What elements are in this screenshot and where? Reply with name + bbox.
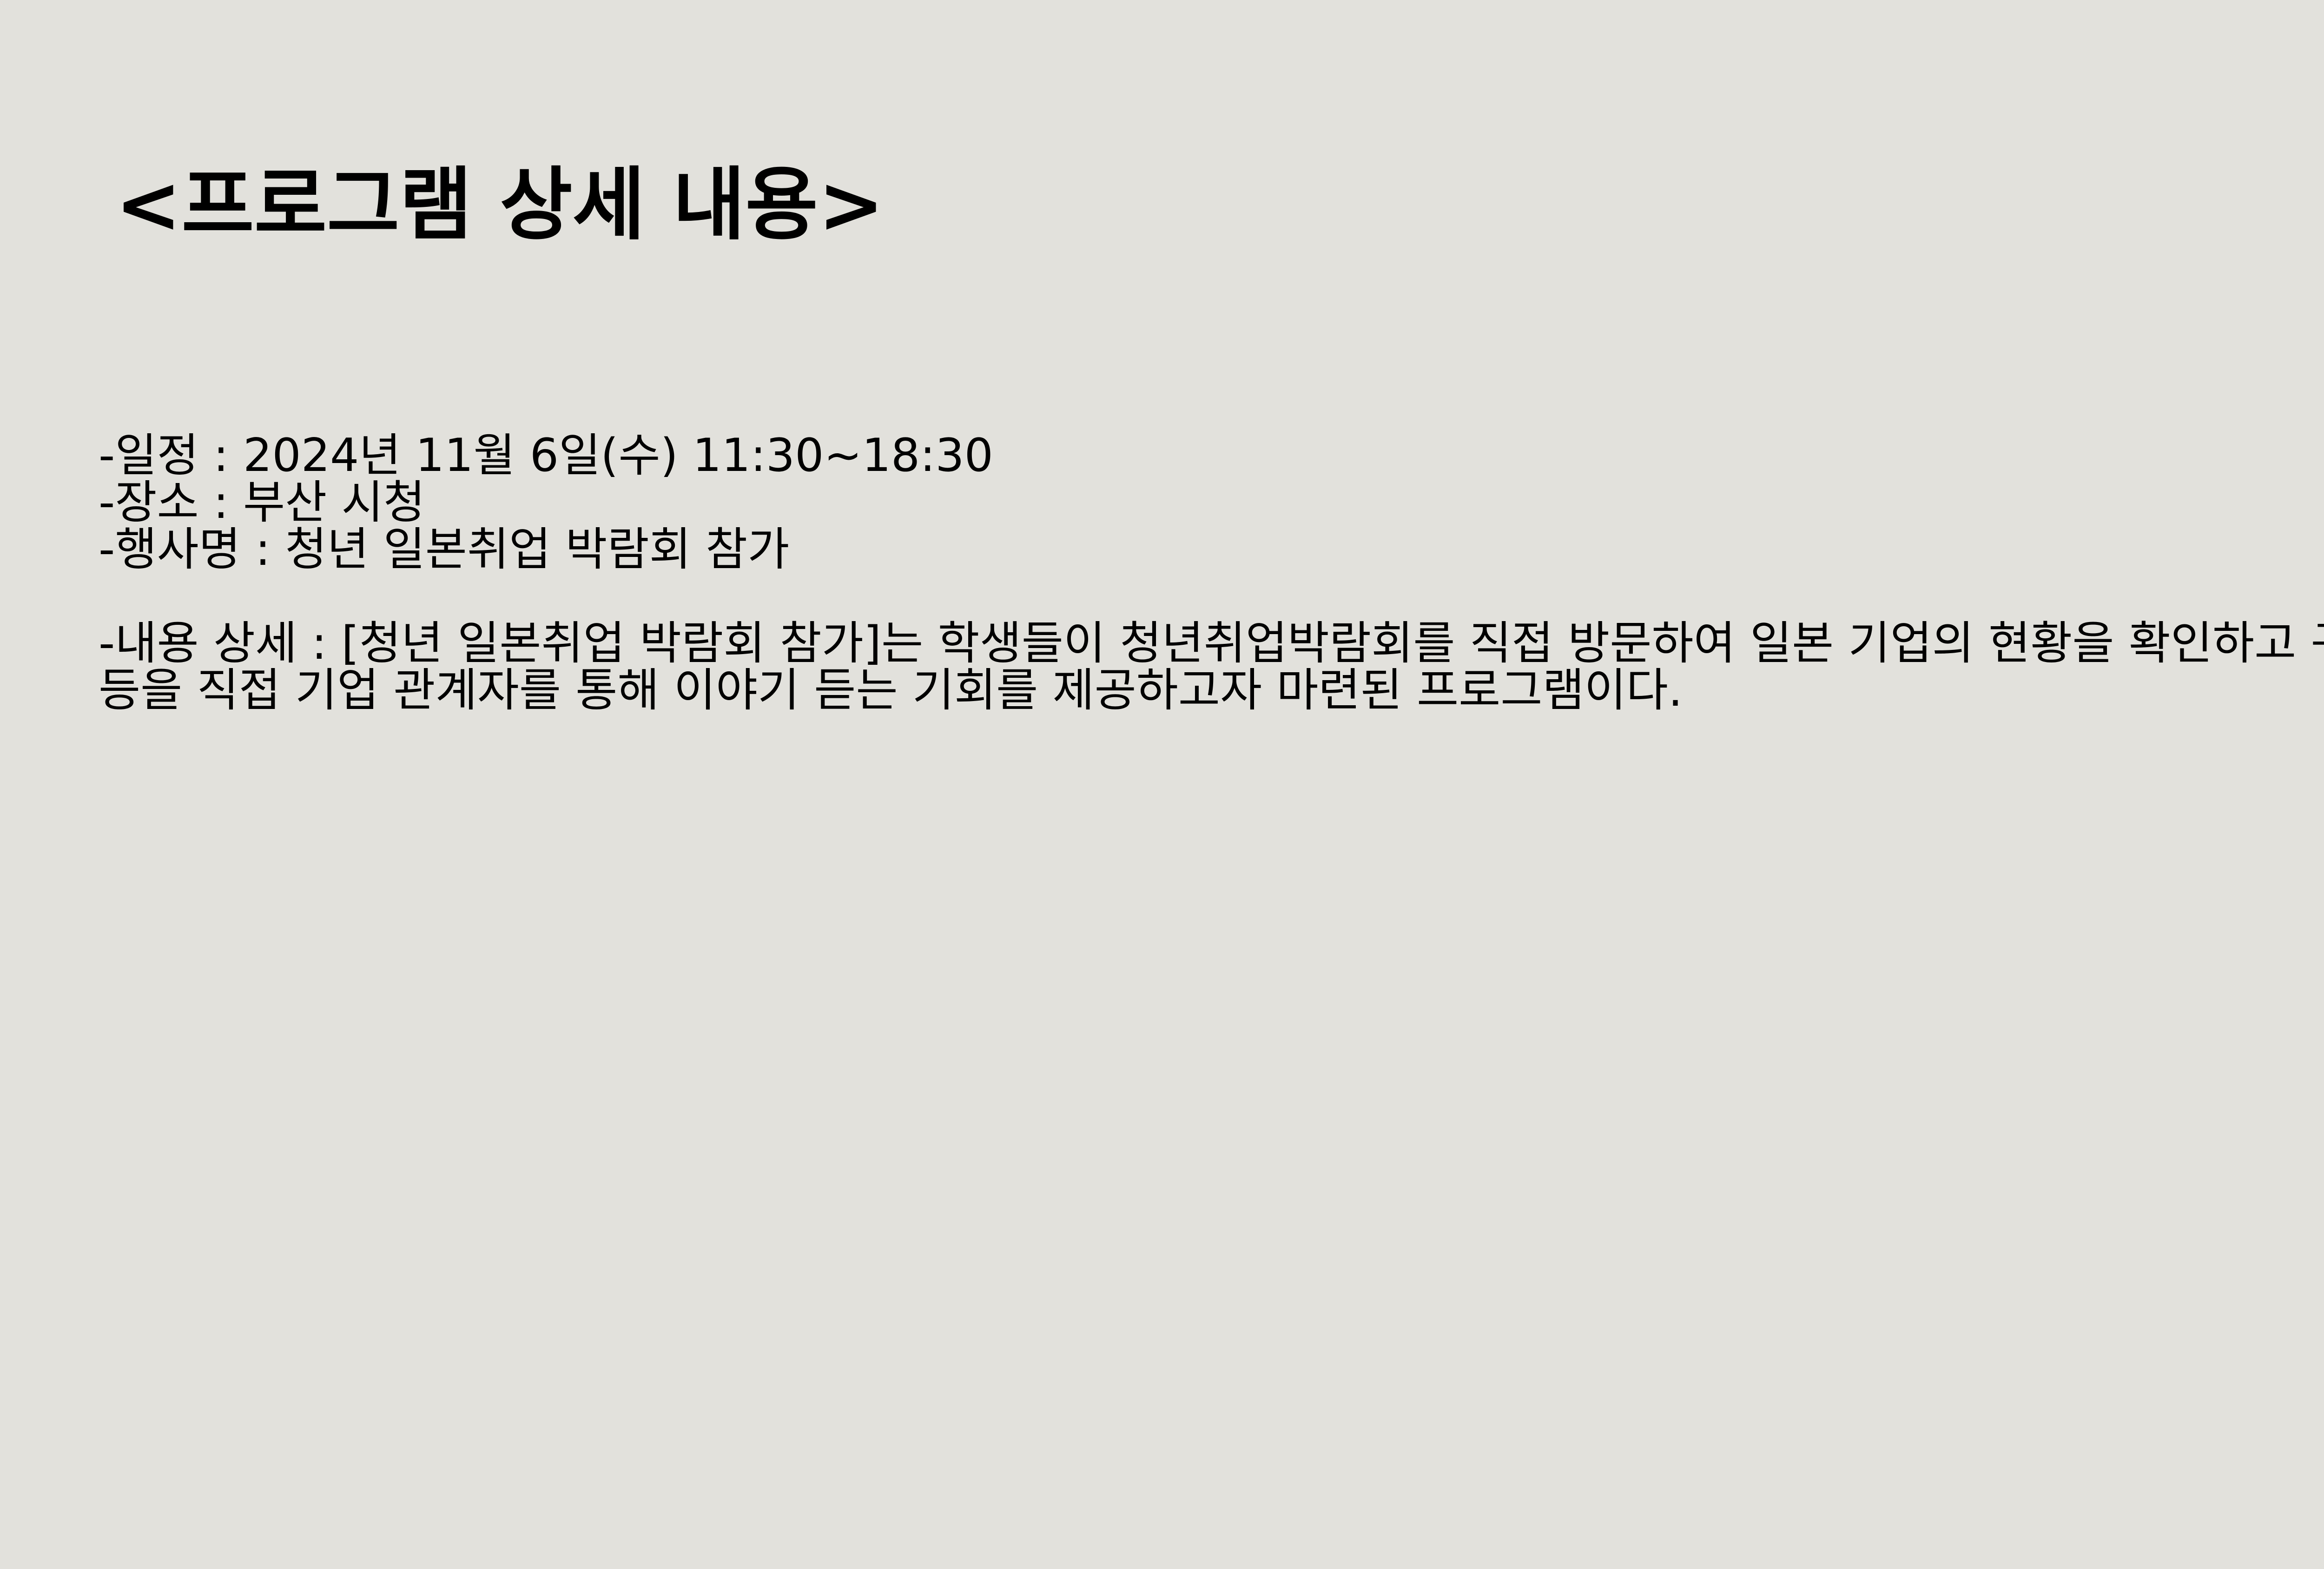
info-line-schedule: -일정 : 2024년 11월 6일(수) 11:30~18:30 (99, 432, 2324, 479)
slide-body: -일정 : 2024년 11월 6일(수) 11:30~18:30 -장소 : … (99, 432, 2324, 714)
page-title: <프로그램 상세 내용> (115, 166, 884, 245)
info-line-event-name: -행사명 : 청년 일본취업 박람회 참가 (99, 526, 2324, 573)
info-line-venue: -장소 : 부산 시청 (99, 479, 2324, 526)
slide-canvas: <프로그램 상세 내용> -일정 : 2024년 11월 6일(수) 11:30… (0, 0, 2324, 1569)
paragraph-spacer (99, 573, 2324, 620)
detail-description-paragraph: -내용 상세 : [청년 일본취업 박람회 참가]는 학생들이 청년취업박람회를… (99, 620, 2324, 714)
program-info-list: -일정 : 2024년 11월 6일(수) 11:30~18:30 -장소 : … (99, 432, 2324, 573)
